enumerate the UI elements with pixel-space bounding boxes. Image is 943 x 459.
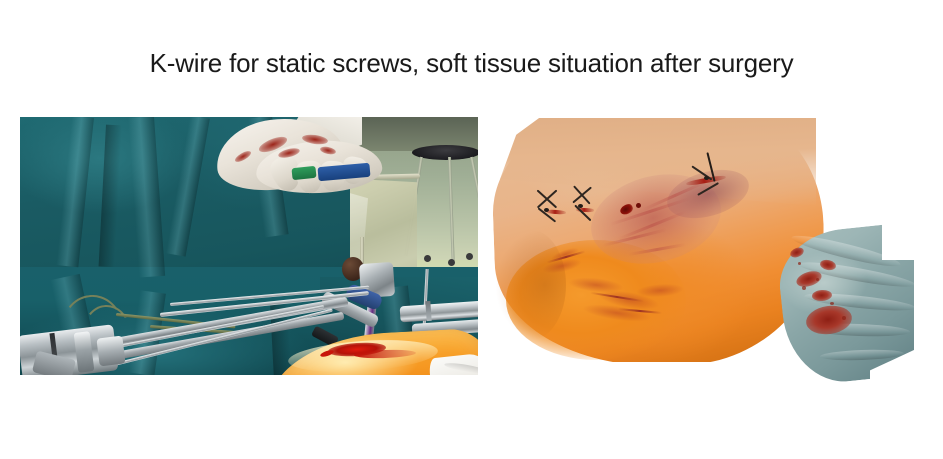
slide-canvas: K-wire for static screws, soft tissue si… <box>0 0 943 459</box>
postoperative-photo <box>490 110 930 385</box>
heel-shadow <box>496 230 566 340</box>
puncture-wound-dot <box>636 203 641 208</box>
blood-speck <box>830 302 834 305</box>
stool-wheel <box>466 253 473 260</box>
cutout-mask <box>490 362 790 385</box>
cutout-mask <box>830 110 890 228</box>
cutout-mask <box>914 230 930 385</box>
blood-speck <box>842 316 846 320</box>
blood-speck <box>802 286 806 290</box>
green-instrument <box>291 166 316 180</box>
blood-speck <box>816 278 819 281</box>
suture-knot <box>544 208 549 212</box>
stool-wheel <box>424 255 431 262</box>
suture-knot <box>704 176 709 180</box>
intraoperative-photo <box>20 117 478 375</box>
page-title: K-wire for static screws, soft tissue si… <box>0 48 943 79</box>
suture-knot <box>578 204 583 208</box>
blood-speck <box>798 262 801 265</box>
drill-chuck <box>96 336 125 367</box>
stool-wheel <box>448 259 455 266</box>
